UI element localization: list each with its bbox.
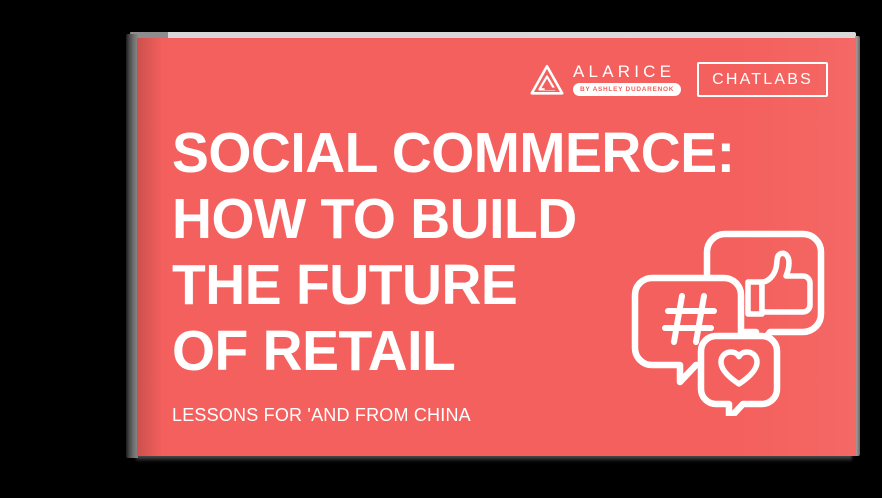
book-cover-mockup: ALARICE BY ASHLEY DUDARENOK CHATLABS SOC…: [126, 38, 856, 456]
cover-subtitle: LESSONS FOR 'AND FROM CHINA: [172, 405, 471, 426]
chatlabs-logo: CHATLABS: [697, 62, 828, 97]
brand-logo-row: ALARICE BY ASHLEY DUDARENOK CHATLABS: [530, 62, 828, 97]
book-front-cover: ALARICE BY ASHLEY DUDARENOK CHATLABS SOC…: [137, 38, 856, 456]
screenshot-canvas: ALARICE BY ASHLEY DUDARENOK CHATLABS SOC…: [0, 0, 882, 498]
alarice-tagline-badge: BY ASHLEY DUDARENOK: [573, 83, 681, 96]
title-line-2: HOW TO BUILD: [172, 186, 696, 252]
alarice-wordmark-group: ALARICE BY ASHLEY DUDARENOK: [573, 63, 681, 96]
alarice-logo: ALARICE BY ASHLEY DUDARENOK: [530, 63, 681, 97]
bubbles-illustration-svg: [630, 216, 840, 416]
social-engagement-bubbles: [630, 216, 840, 416]
alarice-wordmark: ALARICE: [573, 63, 675, 80]
title-line-4: OF RETAIL: [172, 318, 696, 384]
alarice-triangle-a-icon: [530, 63, 564, 97]
title-line-1: SOCIAL COMMERCE:: [172, 120, 696, 186]
title-line-3: THE FUTURE: [172, 252, 696, 318]
heart-bubble: [701, 336, 777, 416]
